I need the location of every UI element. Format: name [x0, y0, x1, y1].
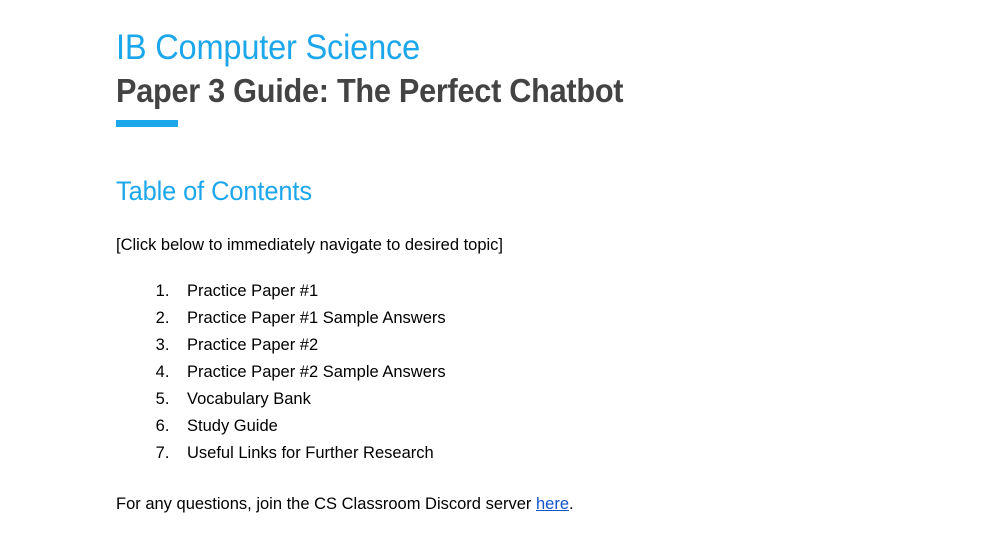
list-item[interactable]: Practice Paper #1 Sample Answers [174, 305, 936, 332]
toc-item-label: Practice Paper #2 Sample Answers [187, 363, 446, 381]
footer-note-text-after: . [569, 495, 574, 513]
document-page: IB Computer Science Paper 3 Guide: The P… [0, 0, 1005, 547]
list-item[interactable]: Study Guide [174, 413, 936, 440]
list-item[interactable]: Practice Paper #2 [174, 332, 936, 359]
list-item[interactable]: Practice Paper #2 Sample Answers [174, 359, 936, 386]
page-title: Paper 3 Guide: The Perfect Chatbot [116, 70, 879, 112]
toc-item-label: Useful Links for Further Research [187, 444, 434, 462]
subject-title: IB Computer Science [116, 28, 879, 68]
toc-instruction-text: [Click below to immediately navigate to … [116, 234, 936, 256]
list-item[interactable]: Useful Links for Further Research [174, 440, 936, 467]
list-item[interactable]: Vocabulary Bank [174, 386, 936, 413]
toc-item-label: Study Guide [187, 417, 278, 435]
toc-item-label: Practice Paper #2 [187, 336, 318, 354]
document-body: IB Computer Science Paper 3 Guide: The P… [116, 0, 936, 515]
section-heading-table-of-contents: Table of Contents [116, 175, 887, 207]
toc-item-label: Practice Paper #1 Sample Answers [187, 309, 446, 327]
toc-list: Practice Paper #1 Practice Paper #1 Samp… [116, 278, 936, 467]
footer-note-text-before: For any questions, join the CS Classroom… [116, 495, 536, 513]
footer-note: For any questions, join the CS Classroom… [116, 493, 936, 515]
discord-server-link[interactable]: here [536, 495, 569, 513]
title-block: IB Computer Science Paper 3 Guide: The P… [116, 0, 936, 127]
toc-item-label: Vocabulary Bank [187, 390, 311, 408]
toc-item-label: Practice Paper #1 [187, 282, 318, 300]
title-underline-rule [116, 120, 178, 127]
list-item[interactable]: Practice Paper #1 [174, 278, 936, 305]
